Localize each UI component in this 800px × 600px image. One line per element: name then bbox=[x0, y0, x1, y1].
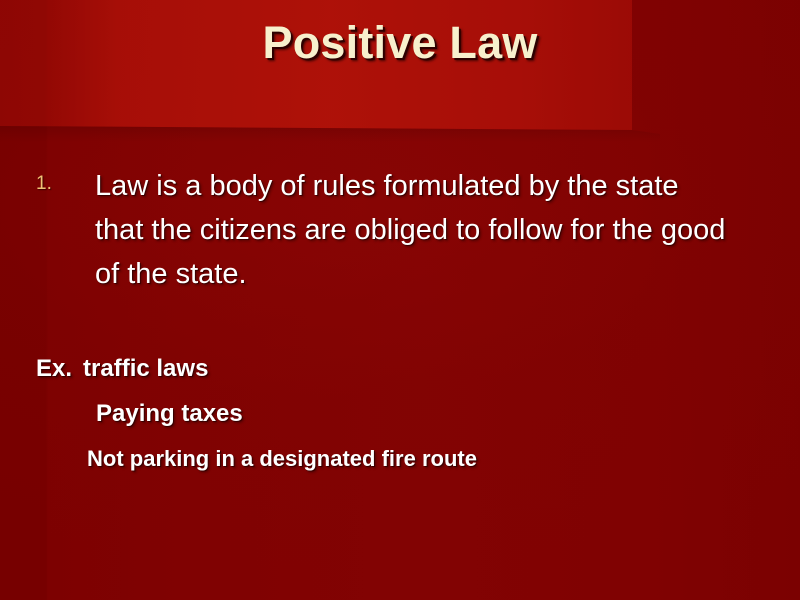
list-item-text: Law is a body of rules formulated by the… bbox=[95, 164, 726, 296]
slide: Positive Law 1. Law is a body of rules f… bbox=[0, 0, 800, 600]
example-line-1: Ex.traffic laws bbox=[36, 355, 208, 383]
example-label: Ex. bbox=[36, 355, 72, 382]
example-line-3: Not parking in a designated fire route bbox=[87, 446, 477, 472]
slide-body: 1. Law is a body of rules formulated by … bbox=[0, 0, 800, 600]
list-marker: 1. bbox=[36, 173, 80, 195]
example-line-2: Paying taxes bbox=[96, 400, 243, 428]
example-item-1: traffic laws bbox=[83, 355, 208, 382]
list-item: 1. Law is a body of rules formulated by … bbox=[36, 164, 726, 296]
